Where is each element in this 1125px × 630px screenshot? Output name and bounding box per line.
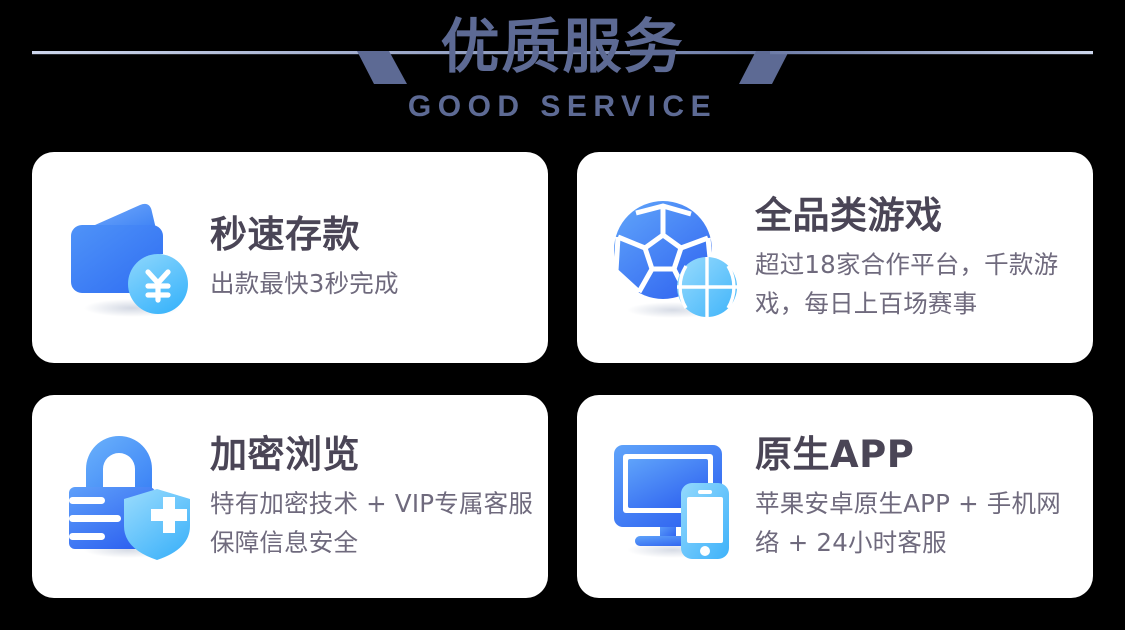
feature-card-encryption[interactable]: 加密浏览 特有加密技术 + VIP专属客服保障信息安全 [32, 395, 548, 598]
monitor-phone-icon [607, 431, 739, 563]
feature-card-text: 原生APP 苹果安卓原生APP + 手机网络 + 24小时客服 [755, 432, 1093, 562]
section-header: 优质服务 GOOD SERVICE [0, 0, 1125, 145]
card-description: 超过18家合作平台，千款游戏，每日上百场赛事 [755, 245, 1079, 323]
feature-card-text: 加密浏览 特有加密技术 + VIP专属客服保障信息安全 [210, 432, 548, 562]
header-title-block: 优质服务 GOOD SERVICE [0, 8, 1125, 126]
soccer-basketball-icon [607, 192, 739, 324]
feature-card-native-app[interactable]: 原生APP 苹果安卓原生APP + 手机网络 + 24小时客服 [577, 395, 1093, 598]
card-title: 加密浏览 [210, 432, 534, 478]
good-service-panel: 优质服务 GOOD SERVICE [0, 0, 1125, 630]
wallet-yen-icon [62, 192, 194, 324]
feature-card-deposit[interactable]: 秒速存款 出款最快3秒完成 [32, 152, 548, 363]
card-title: 秒速存款 [210, 212, 534, 258]
feature-card-text: 全品类游戏 超过18家合作平台，千款游戏，每日上百场赛事 [755, 193, 1093, 323]
lock-shield-icon [62, 431, 194, 563]
card-title: 原生APP [755, 432, 1079, 478]
card-description: 苹果安卓原生APP + 手机网络 + 24小时客服 [755, 484, 1079, 562]
feature-card-grid: 秒速存款 出款最快3秒完成 [32, 152, 1093, 598]
card-title: 全品类游戏 [755, 193, 1079, 239]
card-description: 出款最快3秒完成 [210, 264, 534, 303]
page-title-en: GOOD SERVICE [0, 88, 1125, 126]
feature-card-text: 秒速存款 出款最快3秒完成 [210, 212, 548, 303]
page-title-cn: 优质服务 [0, 8, 1125, 86]
feature-card-games[interactable]: 全品类游戏 超过18家合作平台，千款游戏，每日上百场赛事 [577, 152, 1093, 363]
card-description: 特有加密技术 + VIP专属客服保障信息安全 [210, 484, 534, 562]
